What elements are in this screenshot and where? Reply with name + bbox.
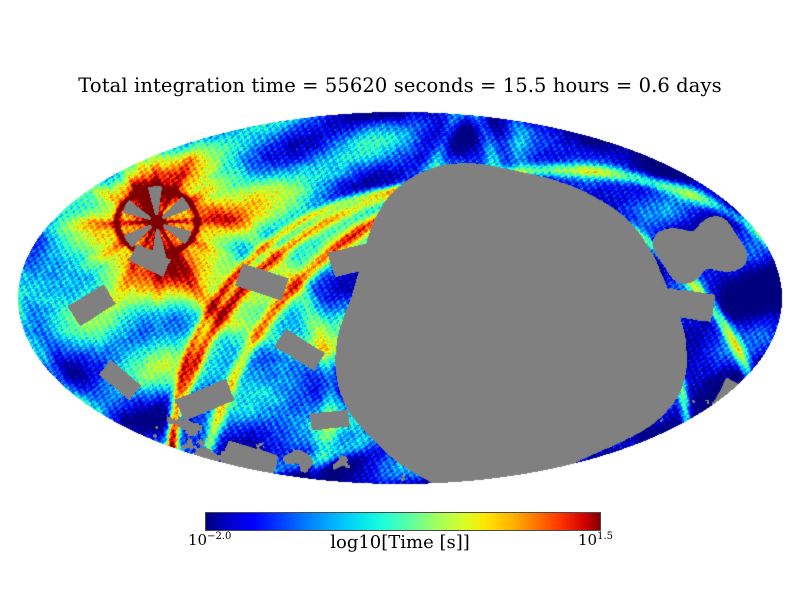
colorbar-gradient [205, 512, 601, 531]
sky-map-figure: Total integration time = 55620 seconds =… [0, 0, 800, 600]
page-title: Total integration time = 55620 seconds =… [0, 74, 800, 97]
colorbar-label: log10[Time [s]] [0, 532, 800, 553]
colorbar [205, 512, 601, 531]
mollweide-sky-map [0, 100, 800, 500]
